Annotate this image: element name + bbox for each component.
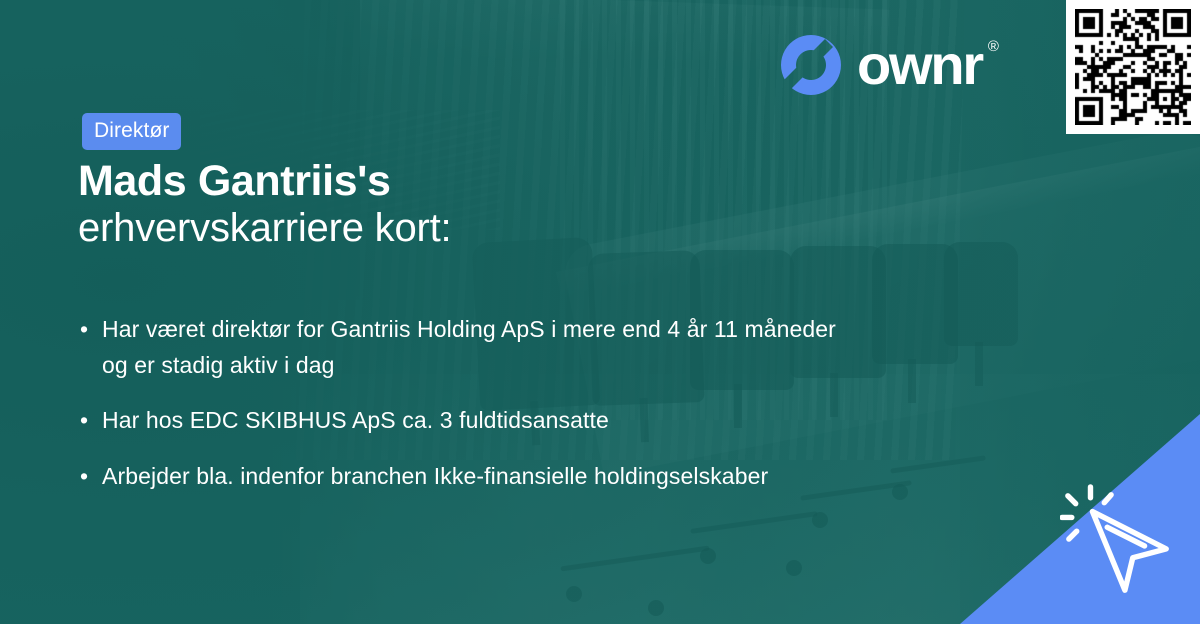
page-title: Mads Gantriis's erhvervskarriere kort: — [78, 157, 938, 252]
bullet-marker: • — [80, 312, 102, 383]
list-item-text: Arbejder bla. indenfor branchen Ikke-fin… — [102, 459, 862, 495]
list-item: • Arbejder bla. indenfor branchen Ikke-f… — [80, 459, 980, 495]
ownr-circle-swirl-icon — [779, 33, 843, 97]
list-item: • Har hos EDC SKIBHUS ApS ca. 3 fuldtids… — [80, 403, 980, 439]
career-fact-list: • Har været direktør for Gantriis Holdin… — [80, 312, 980, 515]
ownr-wordmark: ownr ® — [857, 37, 982, 93]
headline-line-2: erhvervskarriere kort: — [78, 205, 938, 252]
registered-trademark-icon: ® — [988, 39, 999, 54]
ownr-wordmark-text: ownr — [857, 33, 982, 96]
bullet-marker: • — [80, 403, 102, 439]
bullet-marker: • — [80, 459, 102, 495]
list-item-text: Har været direktør for Gantriis Holding … — [102, 312, 862, 383]
list-item: • Har været direktør for Gantriis Holdin… — [80, 312, 980, 383]
qr-code-panel[interactable] — [1066, 0, 1200, 134]
qr-code-icon — [1075, 9, 1191, 125]
list-item-text: Har hos EDC SKIBHUS ApS ca. 3 fuldtidsan… — [102, 403, 862, 439]
headline-line-1: Mads Gantriis's — [78, 157, 938, 205]
ownr-logo[interactable]: ownr ® — [779, 33, 982, 97]
role-badge: Direktør — [82, 113, 181, 150]
mouse-cursor-click-icon — [1060, 484, 1178, 602]
business-career-card: Direktør Mads Gantriis's erhvervskarrier… — [0, 0, 1200, 624]
